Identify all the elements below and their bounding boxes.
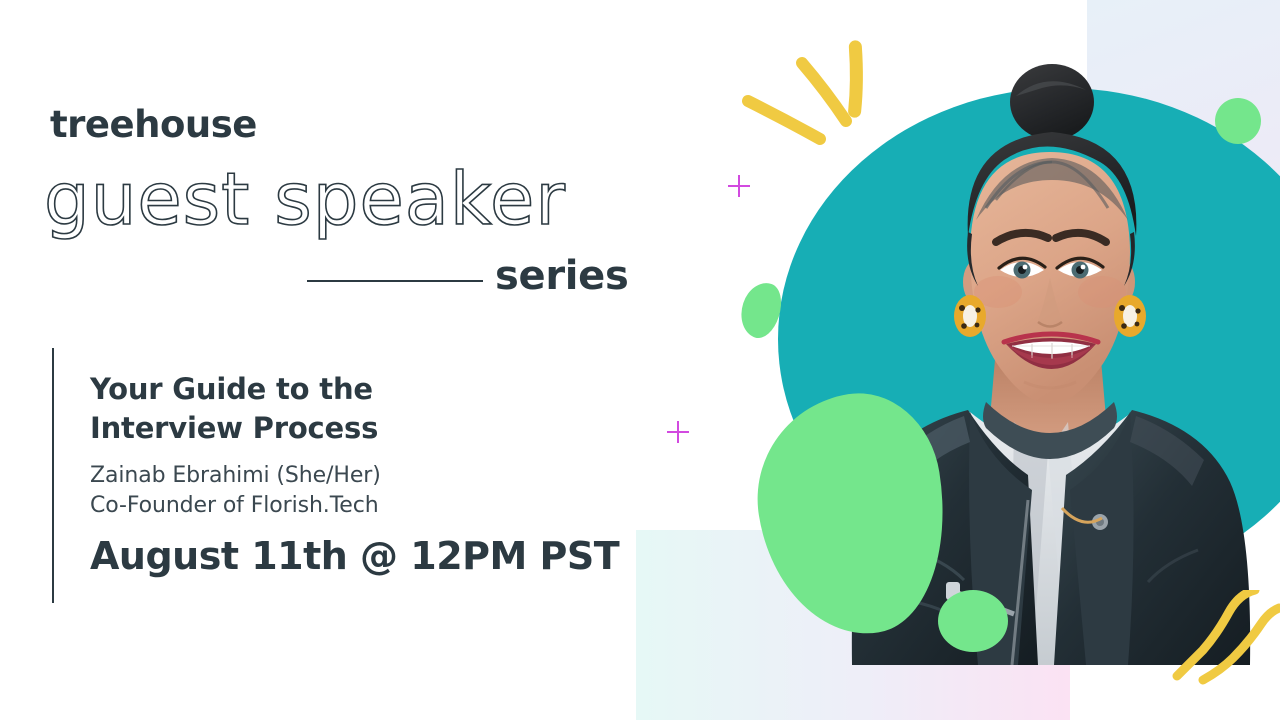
page-title: guest speaker: [44, 163, 566, 235]
speaker-name: Zainab Ebrahimi (She/Her): [90, 461, 381, 491]
talk-title-line-2: Interview Process: [90, 409, 560, 448]
event-accent-bar: [52, 348, 54, 603]
speaker-role: Co-Founder of Florish.Tech: [90, 491, 381, 521]
title-divider-rule: [307, 280, 483, 282]
yellow-squiggle-strokes-icon: [1165, 590, 1280, 720]
green-blob-small-icon: [938, 590, 1008, 652]
slide-canvas: treehouse guest speaker series Your Guid…: [0, 0, 1280, 720]
speaker-info: Zainab Ebrahimi (She/Her) Co-Founder of …: [90, 461, 381, 520]
yellow-ray-strokes-icon: [740, 35, 900, 180]
event-datetime: August 11th @ 12PM PST: [90, 537, 619, 575]
plus-mark-upper-icon: [728, 175, 750, 197]
talk-title: Your Guide to the Interview Process: [90, 370, 560, 447]
plus-mark-lower-icon: [667, 421, 689, 443]
brand-wordmark: treehouse: [50, 106, 257, 143]
talk-title-line-1: Your Guide to the: [90, 370, 560, 409]
series-label: series: [495, 256, 629, 296]
